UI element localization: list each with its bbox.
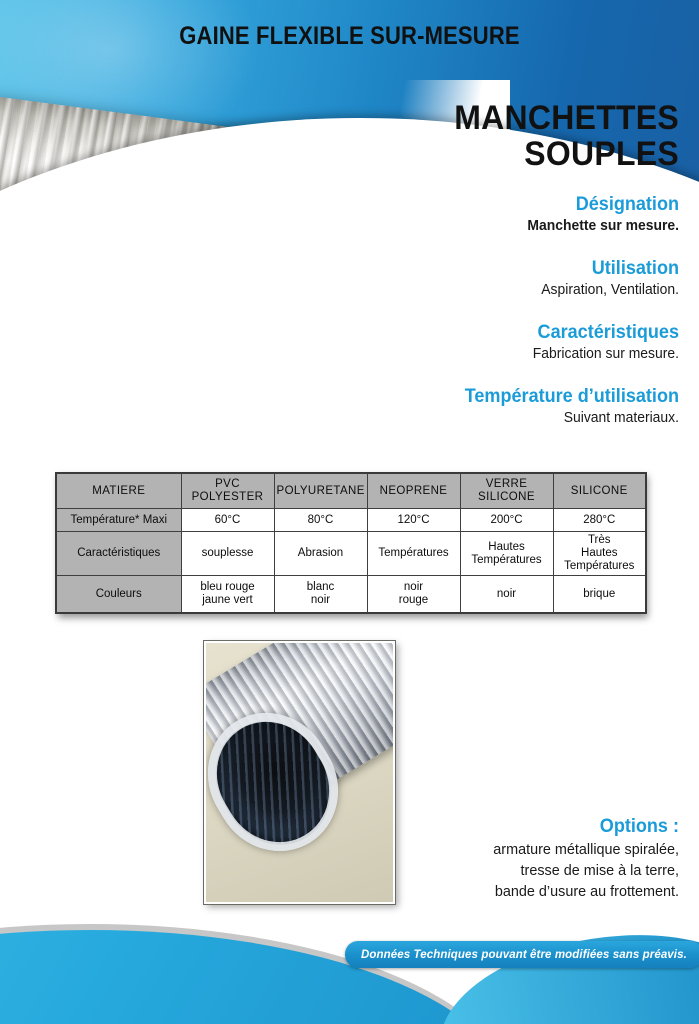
row-header-cell: Caractéristiques (56, 532, 181, 576)
row-header-cell: Température* Maxi (56, 509, 181, 532)
spec-value: Aspiration, Ventilation. (295, 281, 679, 300)
table-cell: 200°C (460, 509, 553, 532)
options-block: Options : armature métallique spiralée, … (299, 815, 679, 902)
footer-notice-text: Données Techniques pouvant être modifiée… (361, 949, 687, 961)
table-row: Caractéristiques souplesse Abrasion Temp… (56, 532, 646, 576)
spec-temperature: Température d’utilisation Suivant materi… (279, 385, 679, 428)
options-line: bande d’usure au frottement. (314, 881, 679, 902)
datasheet-page: GAINE FLEXIBLE SUR-MESURE MANCHETTES SOU… (0, 0, 699, 1024)
table-header-cell: MATIERE (56, 473, 181, 509)
table-cell: Températures (367, 532, 460, 576)
table-cell: 280°C (553, 509, 646, 532)
page-title: GAINE FLEXIBLE SUR-MESURE (42, 22, 657, 51)
table-header-cell: SILICONE (553, 473, 646, 509)
row-header-cell: Couleurs (56, 576, 181, 614)
spec-heading: Température d’utilisation (299, 385, 679, 408)
table-cell: 80°C (274, 509, 367, 532)
spec-caracteristiques: Caractéristiques Fabrication sur mesure. (279, 321, 679, 364)
footer-corner-wedge (428, 914, 699, 1024)
footer-notice-pill: Données Techniques pouvant être modifiée… (345, 941, 699, 968)
spec-value: Suivant materiaux. (295, 409, 679, 428)
table-cell: noir (460, 576, 553, 614)
table-header-cell: NEOPRENE (367, 473, 460, 509)
spec-utilisation: Utilisation Aspiration, Ventilation. (279, 257, 679, 300)
table-row: Couleurs bleu rouge jaune vert blanc noi… (56, 576, 646, 614)
spec-designation: Désignation Manchette sur mesure. (279, 193, 679, 236)
spec-value: Fabrication sur mesure. (295, 345, 679, 364)
product-name-line1: MANCHETTES (303, 100, 679, 136)
footer-banner: Données Techniques pouvant être modifiée… (0, 914, 699, 1024)
table-cell: Abrasion (274, 532, 367, 576)
options-line: armature métallique spiralée, (314, 839, 679, 860)
spec-heading: Utilisation (299, 257, 679, 280)
spec-value: Manchette sur mesure. (295, 217, 679, 236)
table-cell: noir rouge (367, 576, 460, 614)
table-cell: brique (553, 576, 646, 614)
spec-heading: Désignation (299, 193, 679, 216)
table-row: Température* Maxi 60°C 80°C 120°C 200°C … (56, 509, 646, 532)
table-cell: 60°C (181, 509, 274, 532)
options-line: tresse de mise à la terre, (314, 860, 679, 881)
table-header-cell: POLYURETANE (274, 473, 367, 509)
table-header-row: MATIERE PVC POLYESTER POLYURETANE NEOPRE… (56, 473, 646, 509)
table-cell: 120°C (367, 509, 460, 532)
table-header-cell: PVC POLYESTER (181, 473, 274, 509)
spec-heading: Caractéristiques (299, 321, 679, 344)
options-heading: Options : (318, 815, 679, 839)
table-header-cell: VERRE SILICONE (460, 473, 553, 509)
materials-table-wrapper: MATIERE PVC POLYESTER POLYURETANE NEOPRE… (55, 472, 645, 614)
table-cell: blanc noir (274, 576, 367, 614)
materials-table: MATIERE PVC POLYESTER POLYURETANE NEOPRE… (55, 472, 647, 614)
table-cell: Très Hautes Températures (553, 532, 646, 576)
table-cell: bleu rouge jaune vert (181, 576, 274, 614)
table-cell: Hautes Températures (460, 532, 553, 576)
product-name-line2: SOUPLES (303, 136, 679, 172)
product-info-column: MANCHETTES SOUPLES Désignation Manchette… (279, 100, 679, 428)
table-cell: souplesse (181, 532, 274, 576)
